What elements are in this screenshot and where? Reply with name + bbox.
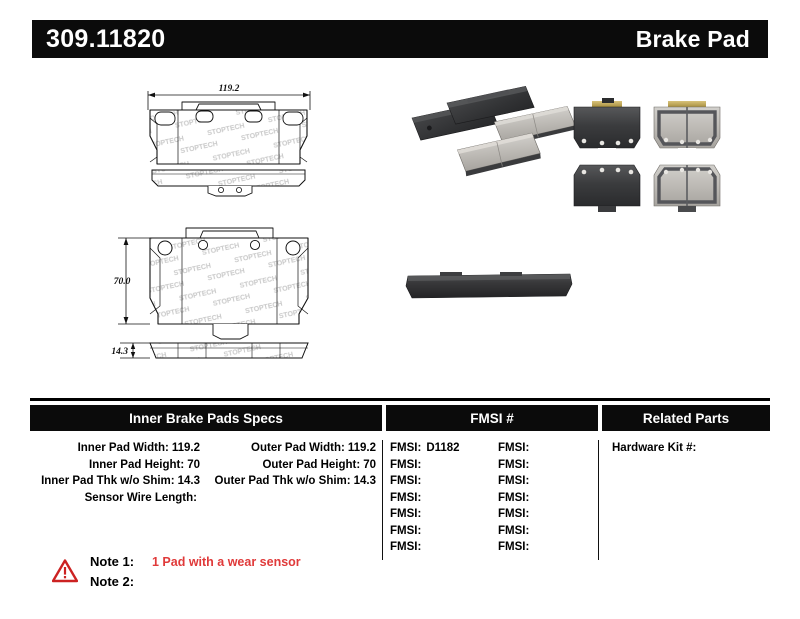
side-view-pad-lower: 14.3 [111,343,308,358]
spec-row: Outer Pad Width:119.2 [206,440,382,457]
notes-section: Note 1: 1 Pad with a wear sensor Note 2: [52,552,301,591]
fmsi-value: D1182 [421,442,459,454]
svg-text:14.3: 14.3 [111,347,128,357]
fmsi-row: FMSI: [490,457,598,474]
fmsi-value [529,442,534,454]
fmsi-label: FMSI: [498,541,529,553]
warning-triangle-icon [52,554,78,588]
fmsi-row: FMSI: [382,490,490,507]
note-list: Note 1: 1 Pad with a wear sensor Note 2: [90,552,301,591]
fmsi-value [421,475,426,487]
fmsi-label: FMSI: [390,459,421,471]
svg-text:70.0: 70.0 [114,277,131,287]
column-header-related-parts: Related Parts [602,405,770,431]
spec-row: Sensor Wire Length: [30,490,206,507]
fmsi-label: FMSI: [498,442,529,454]
fmsi-row: FMSI: [382,473,490,490]
spec-row: Outer Pad Thk w/o Shim:14.3 [206,473,382,490]
fmsi-subcolumn-right: FMSI: FMSI: FMSI: FMSI: FMSI: FMSI: [490,440,598,556]
fmsi-row: FMSI:D1182 [382,440,490,457]
fmsi-value [529,475,534,487]
table-body-row: Inner Pad Width:119.2 Inner Pad Height:7… [30,440,770,556]
fmsi-label: FMSI: [390,475,421,487]
fmsi-row: FMSI: [382,506,490,523]
spec-value: 119.2 [345,442,376,454]
spec-row: Outer Pad Height:70 [206,457,382,474]
top-view-pad-outline: 119.2 [148,84,310,164]
fmsi-value [529,459,534,471]
spec-row: Inner Pad Height:70 [30,457,206,474]
fmsi-value [529,508,534,520]
fmsi-value [421,459,426,471]
spec-label: Outer Pad Height: [262,459,360,471]
fmsi-row: FMSI: [490,490,598,507]
spec-label: Inner Pad Height: [89,459,184,471]
note-label: Note 2: [90,572,146,591]
related-part-row: Hardware Kit #: [598,440,770,457]
fmsi-subcolumn-left: FMSI:D1182 FMSI: FMSI: FMSI: FMSI: FMSI: [382,440,490,556]
spec-label: Sensor Wire Length: [85,492,197,504]
fmsi-value [421,492,426,504]
fmsi-row: FMSI: [490,539,598,556]
note-label: Note 1: [90,552,146,571]
specifications-table: Inner Brake Pads Specs FMSI # Related Pa… [30,398,770,556]
spec-row: Inner Pad Width:119.2 [30,440,206,457]
fmsi-value [421,541,426,553]
fmsi-label: FMSI: [498,475,529,487]
fmsi-row: FMSI: [382,523,490,540]
fmsi-label: FMSI: [498,525,529,537]
spec-row: Inner Pad Thk w/o Shim:14.3 [30,473,206,490]
note-row: Note 2: [90,572,301,591]
front-view-pad-outline: 70.0 [114,228,308,339]
column-separator-2 [598,440,599,560]
table-header-row: Inner Brake Pads Specs FMSI # Related Pa… [30,405,770,431]
fmsi-column: FMSI:D1182 FMSI: FMSI: FMSI: FMSI: FMSI: [382,440,598,556]
spec-label: Inner Pad Width: [78,442,169,454]
spec-value: 119.2 [169,442,200,454]
fmsi-value [421,508,426,520]
technical-drawings-svg: STOPTECH STOPTECH STOPTECH [0,62,800,392]
spec-label: Outer Pad Width: [251,442,345,454]
pads-front-back-grid-photo [574,98,720,212]
column-header-inner-specs: Inner Brake Pads Specs [30,405,382,431]
spec-value [197,492,200,504]
column-separator-1 [382,440,383,560]
fmsi-label: FMSI: [390,508,421,520]
fmsi-label: FMSI: [498,459,529,471]
part-number: 309.11820 [46,25,166,54]
related-parts-column: Hardware Kit #: [598,440,770,556]
fmsi-label: FMSI: [390,541,421,553]
fmsi-row: FMSI: [382,539,490,556]
note-text: 1 Pad with a wear sensor [146,553,301,572]
fmsi-row: FMSI: [382,457,490,474]
fmsi-value [529,525,534,537]
fmsi-value [529,541,534,553]
related-part-label: Hardware Kit #: [612,442,696,454]
fmsi-label: FMSI: [498,508,529,520]
spec-label: Inner Pad Thk w/o Shim: [41,475,175,487]
svg-text:119.2: 119.2 [219,84,240,94]
page-header: 309.11820 Brake Pad [32,20,768,58]
fmsi-row: FMSI: [490,440,598,457]
pad-edge-view-photo [406,272,572,305]
product-category-title: Brake Pad [636,26,750,53]
spec-value: 70 [360,459,376,471]
product-illustration-area: STOPTECH STOPTECH STOPTECH [0,62,800,392]
spec-value: 14.3 [175,475,200,487]
inner-specs-column: Inner Pad Width:119.2 Inner Pad Height:7… [30,440,206,556]
outer-specs-column: Outer Pad Width:119.2 Outer Pad Height:7… [206,440,382,556]
fmsi-value [421,525,426,537]
fmsi-value [529,492,534,504]
spec-value: 14.3 [351,475,376,487]
side-view-pad-upper [152,170,305,196]
fmsi-label: FMSI: [390,442,421,454]
note-row: Note 1: 1 Pad with a wear sensor [90,552,301,572]
pads-angled-group-photo [411,86,576,177]
fmsi-row: FMSI: [490,473,598,490]
fmsi-label: FMSI: [390,492,421,504]
fmsi-label: FMSI: [390,525,421,537]
fmsi-label: FMSI: [498,492,529,504]
spec-label: Outer Pad Thk w/o Shim: [215,475,351,487]
column-header-fmsi: FMSI # [386,405,598,431]
fmsi-row: FMSI: [490,523,598,540]
fmsi-row: FMSI: [490,506,598,523]
spec-value: 70 [184,459,200,471]
table-top-border [30,398,770,401]
